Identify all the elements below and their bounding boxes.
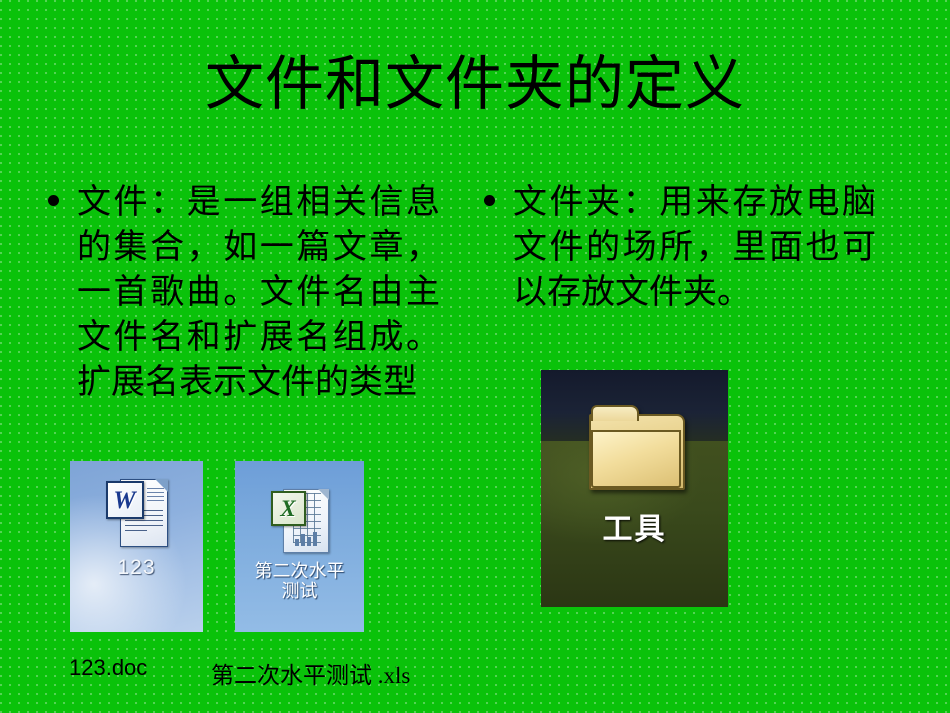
excel-document-icon: X — [271, 487, 329, 553]
word-document-screenshot: W 123 — [70, 461, 203, 632]
folder-desktop-label: 工具 — [603, 514, 667, 546]
word-document-icon: W — [106, 475, 168, 549]
caption-excel-xls: 第二次水平测试 .xls — [211, 656, 410, 690]
excel-letter-badge-icon: X — [271, 491, 306, 526]
bullet-item-folder-definition: 文件夹：用来存放电脑文件的场所，里面也可以存放文件夹。 — [484, 180, 876, 315]
folder-tab-shape — [591, 405, 639, 421]
slide-canvas: 文件和文件夹的定义 文件：是一组相关信息的集合，如一篇文章，一首歌曲。文件名由主… — [0, 0, 950, 713]
spreadsheet-chart-bars-icon — [295, 531, 319, 546]
folder-icon — [589, 414, 681, 488]
page-title: 文件和文件夹的定义 — [0, 48, 950, 120]
word-desktop-label: 123 — [117, 557, 155, 580]
folder-screenshot: 工具 — [541, 370, 728, 607]
excel-desktop-label-line1: 第二次水平 — [255, 561, 345, 581]
caption-123-doc: 123.doc — [69, 655, 147, 681]
word-desktop-caption: 123 — [117, 557, 155, 580]
excel-desktop-label-line2: 测试 — [255, 581, 345, 601]
folder-desktop-caption: 工具 — [603, 514, 667, 546]
folder-front-shape — [591, 430, 681, 488]
bullet-dot-icon — [48, 195, 59, 206]
excel-badge-letter: X — [280, 497, 295, 520]
word-badge-letter: W — [113, 488, 135, 513]
bullet-dot-icon — [484, 195, 495, 206]
word-letter-badge-icon: W — [106, 481, 144, 519]
excel-desktop-caption: 第二次水平 测试 — [255, 561, 345, 601]
bullet-text-file-definition: 文件：是一组相关信息的集合，如一篇文章，一首歌曲。文件名由主文件名和扩展名组成。… — [77, 180, 440, 405]
page-header-lines — [147, 488, 164, 504]
bullet-item-file-definition: 文件：是一组相关信息的集合，如一篇文章，一首歌曲。文件名由主文件名和扩展名组成。… — [48, 180, 440, 405]
excel-document-screenshot: X 第二次水平 测试 — [235, 461, 364, 632]
bullet-text-folder-definition: 文件夹：用来存放电脑文件的场所，里面也可以存放文件夹。 — [513, 180, 876, 315]
